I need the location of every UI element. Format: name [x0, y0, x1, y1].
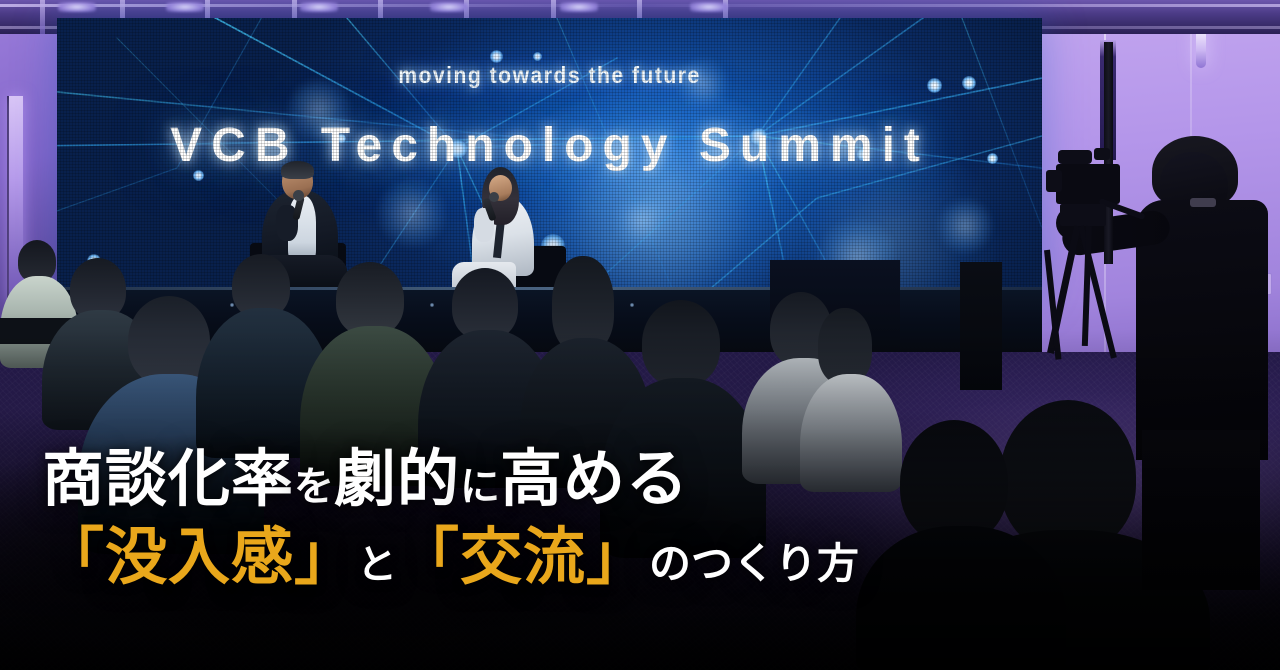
headline-l1-p3: 劇的 [334, 442, 460, 515]
event-photo-banner: moving towards the future VCB Technology… [0, 0, 1280, 670]
headline-l1-p1: 商談化率 [42, 442, 294, 515]
headline-l1-p4: に [460, 464, 500, 510]
headline-line-2: 「没入感」と「交流」のつくり方 [42, 526, 882, 588]
screen-tagline: moving towards the future [96, 62, 1002, 89]
headline-l1-p5: 高める [500, 442, 689, 515]
headline-l1-p2: を [294, 464, 334, 510]
headline-l2-p2: と [357, 542, 397, 588]
headline-l2-p4: のつくり方 [649, 539, 859, 588]
headline-line-1: 商談化率を劇的に高める [42, 448, 882, 510]
screen-title: VCB Technology Summit [57, 118, 1042, 173]
network-node [533, 52, 542, 61]
headline-l2-p3: 「交流」 [397, 520, 649, 593]
headline-l2-p1: 「没入感」 [42, 520, 357, 593]
headline-overlay: 商談化率を劇的に高める 「没入感」と「交流」のつくり方 [42, 448, 882, 588]
